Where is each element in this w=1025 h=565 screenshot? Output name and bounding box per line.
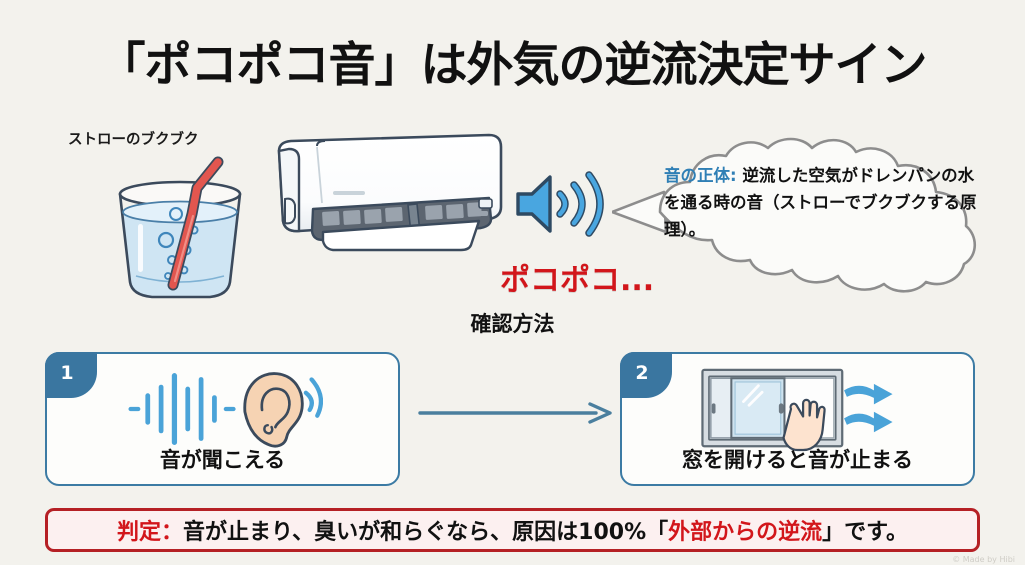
- step-card-1[interactable]: 1: [45, 352, 400, 486]
- wall-mounted-air-conditioner-icon: [265, 133, 510, 258]
- page-title: 「ポコポコ音」は外気の逆流決定サイン: [0, 26, 1025, 95]
- straw-label: ストローのブクブク: [68, 128, 199, 149]
- verdict-highlight: 外部からの逆流: [668, 520, 822, 545]
- bubble-text: 音の正体: 逆流した空気がドレンパンの水を通る時の音（ストローでブクブクする原理…: [664, 162, 979, 243]
- speaker-sound-icon: [512, 168, 612, 240]
- ear-hearing-sound-icon: [47, 368, 398, 450]
- verdict-banner: 判定：音が止まり、臭いが和らぐなら、原因は100%「外部からの逆流」です。: [45, 508, 980, 552]
- verdict-middle: 音が止まり、臭いが和らぐなら、原因は100%「: [183, 520, 668, 545]
- step-card-2[interactable]: 2: [620, 352, 975, 486]
- verdict-suffix: 」です。: [822, 520, 908, 545]
- method-heading: 確認方法: [0, 308, 1025, 338]
- step-caption-2: 窓を開けると音が止まる: [622, 444, 973, 474]
- infographic-canvas: 「ポコポコ音」は外気の逆流決定サイン ストローのブクブク: [0, 0, 1025, 565]
- verdict-prefix: 判定：: [117, 520, 183, 545]
- open-window-airflow-hand-icon: [622, 368, 973, 450]
- water-glass-with-straw-icon: [100, 148, 260, 303]
- verdict-text: 判定：音が止まり、臭いが和らぐなら、原因は100%「外部からの逆流」です。: [117, 514, 908, 546]
- credit-watermark: © Made by Hibi: [952, 555, 1015, 564]
- step-caption-1: 音が聞こえる: [47, 444, 398, 474]
- right-arrow-icon: [418, 400, 616, 426]
- bubble-lead: 音の正体:: [664, 166, 737, 185]
- sound-effect-label: ポコポコ...: [500, 255, 654, 299]
